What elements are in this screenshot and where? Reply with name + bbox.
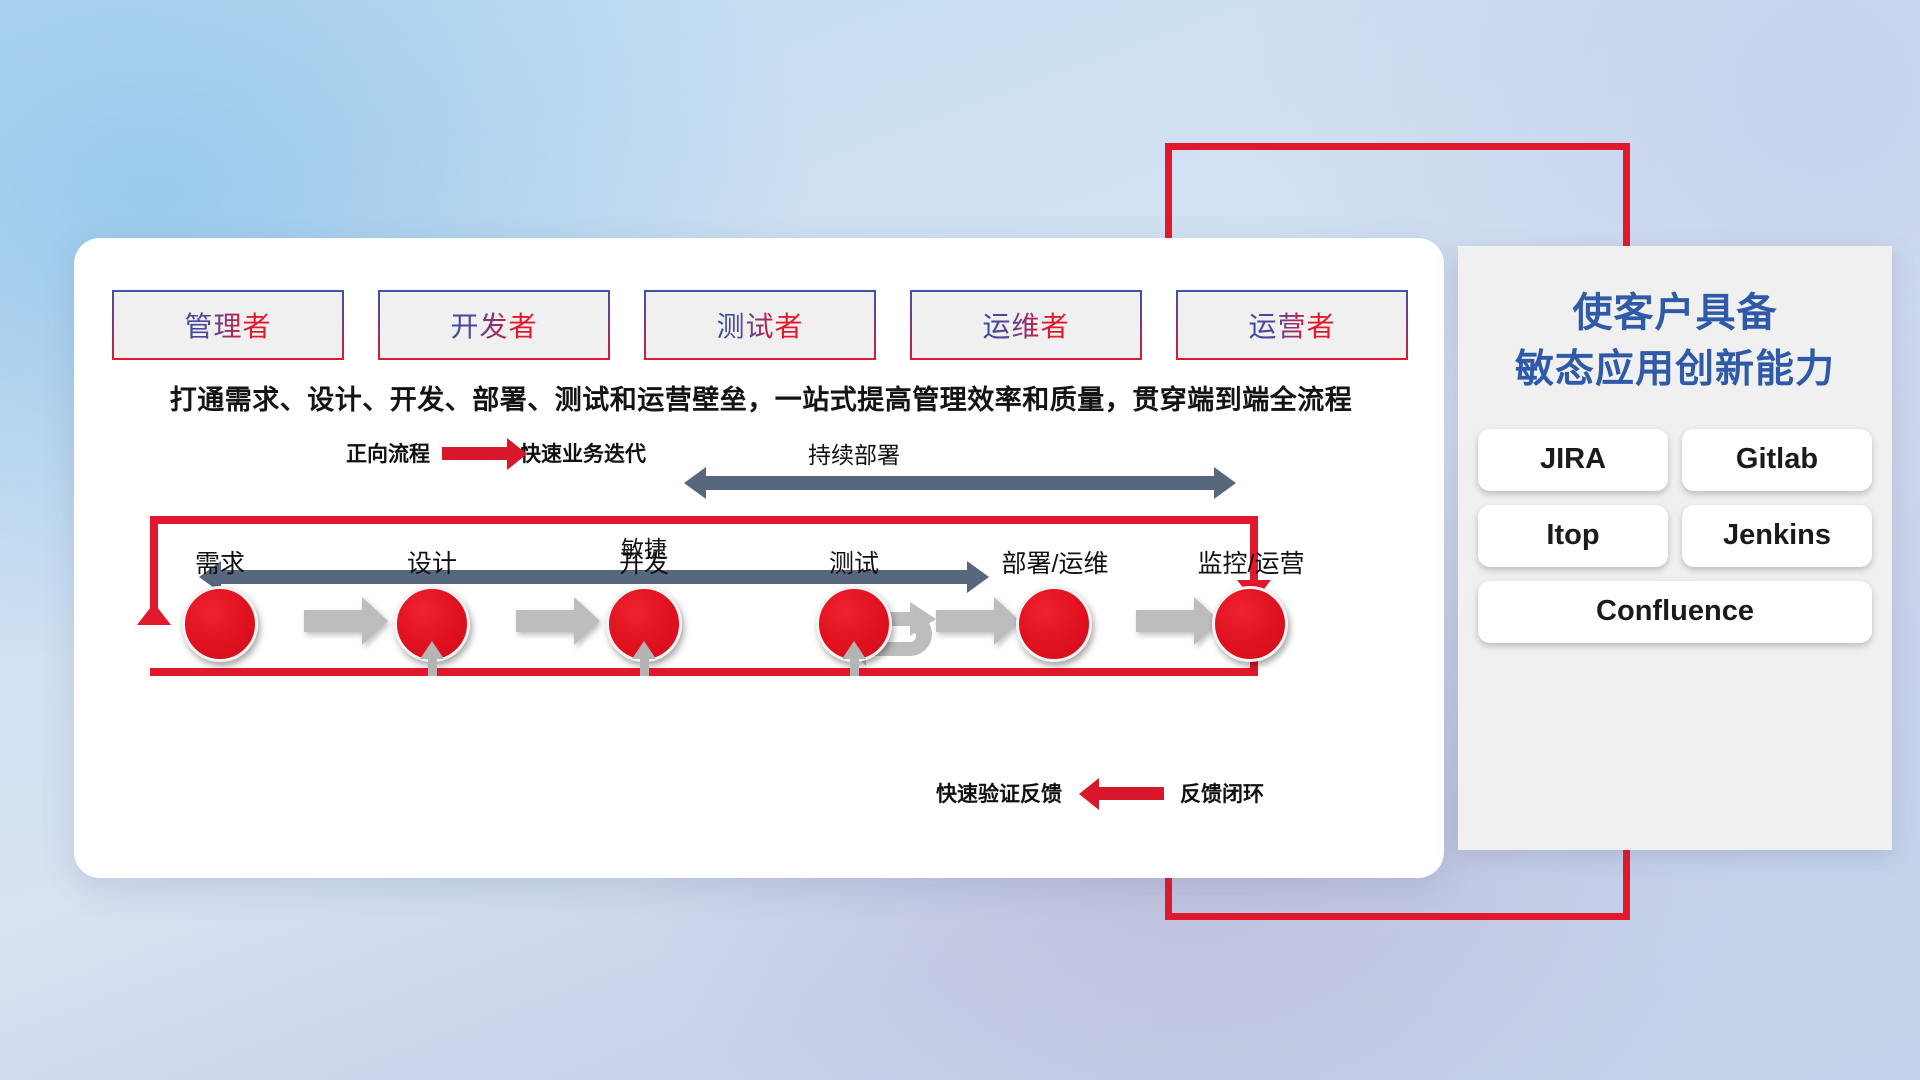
pipeline-stem-test (850, 658, 859, 676)
tool-chip-confluence[interactable]: Confluence (1478, 581, 1872, 643)
pipeline-stage-label: 监控/运营 (1156, 544, 1346, 580)
role-badge-manager[interactable]: 管理者 (112, 290, 344, 360)
pipeline-stem-develop (640, 658, 649, 676)
arrow-right-red-icon (442, 447, 508, 460)
value-statement: 打通需求、设计、开发、部署、测试和运营壁垒，一站式提高管理效率和质量，贯穿端到端… (116, 378, 1406, 417)
tool-chip-gitlab[interactable]: Gitlab (1682, 429, 1872, 491)
role-badge-label: 测试者 (716, 305, 803, 345)
capability-title-line2: 敏态应用创新能力 (1458, 342, 1892, 399)
role-badges-row: 管理者 开发者 测试者 运维者 运营者 (112, 290, 1408, 360)
span-label-continuous-deployment: 持续部署 (714, 436, 994, 470)
feedback-loop-legend: 快速验证反馈 反馈闭环 (936, 778, 1264, 808)
pipeline-node-requirements[interactable] (182, 586, 258, 662)
pipeline-stem-design (428, 658, 437, 676)
pipeline-stage-label: 设计 (382, 544, 482, 580)
tool-chip-list: JIRA Gitlab Itop Jenkins Confluence (1458, 429, 1892, 643)
arrow-right-gray-icon (936, 610, 996, 632)
fast-iteration-label: 快速业务迭代 (520, 438, 646, 468)
pipeline-stage-label: 部署/运维 (960, 544, 1150, 580)
role-badge-label: 运营者 (1248, 305, 1335, 345)
role-badge-label: 运维者 (982, 305, 1069, 345)
feedback-loop-top-segment (150, 516, 1258, 524)
pipeline-stage-label: 开发 (594, 544, 694, 580)
forward-flow-legend: 正向流程 快速业务迭代 (346, 438, 646, 468)
span-arrow-continuous-deployment (704, 476, 1216, 490)
role-badge-label: 开发者 (450, 305, 537, 345)
capability-panel: 使客户具备 敏态应用创新能力 JIRA Gitlab Itop Jenkins … (1458, 246, 1892, 850)
capability-title-line1: 使客户具备 (1458, 284, 1892, 342)
pipeline-node-monitor-operations[interactable] (1212, 586, 1288, 662)
devops-pipeline: 需求 设计 开发 测试 部署/运维 监控/运营 (144, 538, 1274, 688)
role-badge-ops[interactable]: 运维者 (910, 290, 1142, 360)
capability-panel-title: 使客户具备 敏态应用创新能力 (1458, 284, 1892, 399)
role-badge-label: 管理者 (184, 305, 271, 345)
arrow-right-gray-icon (516, 610, 576, 632)
devops-overview-card: 管理者 开发者 测试者 运维者 运营者 打通需求、设计、开发、部署、测试和运营壁… (74, 238, 1444, 878)
role-badge-tester[interactable]: 测试者 (644, 290, 876, 360)
arrow-right-gray-icon (304, 610, 364, 632)
tool-chip-jenkins[interactable]: Jenkins (1682, 505, 1872, 567)
role-badge-operations[interactable]: 运营者 (1176, 290, 1408, 360)
tool-chip-jira[interactable]: JIRA (1478, 429, 1668, 491)
fast-validation-label: 快速验证反馈 (936, 778, 1062, 808)
pipeline-stage-label: 测试 (804, 544, 904, 580)
pipeline-node-deploy-ops[interactable] (1016, 586, 1092, 662)
arrow-right-gray-icon (1136, 610, 1196, 632)
arrow-left-red-icon (1098, 787, 1164, 800)
pipeline-stage-label: 需求 (170, 544, 270, 580)
forward-flow-label: 正向流程 (346, 438, 430, 468)
feedback-closed-loop-label: 反馈闭环 (1180, 778, 1264, 808)
tool-chip-itop[interactable]: Itop (1478, 505, 1668, 567)
role-badge-developer[interactable]: 开发者 (378, 290, 610, 360)
